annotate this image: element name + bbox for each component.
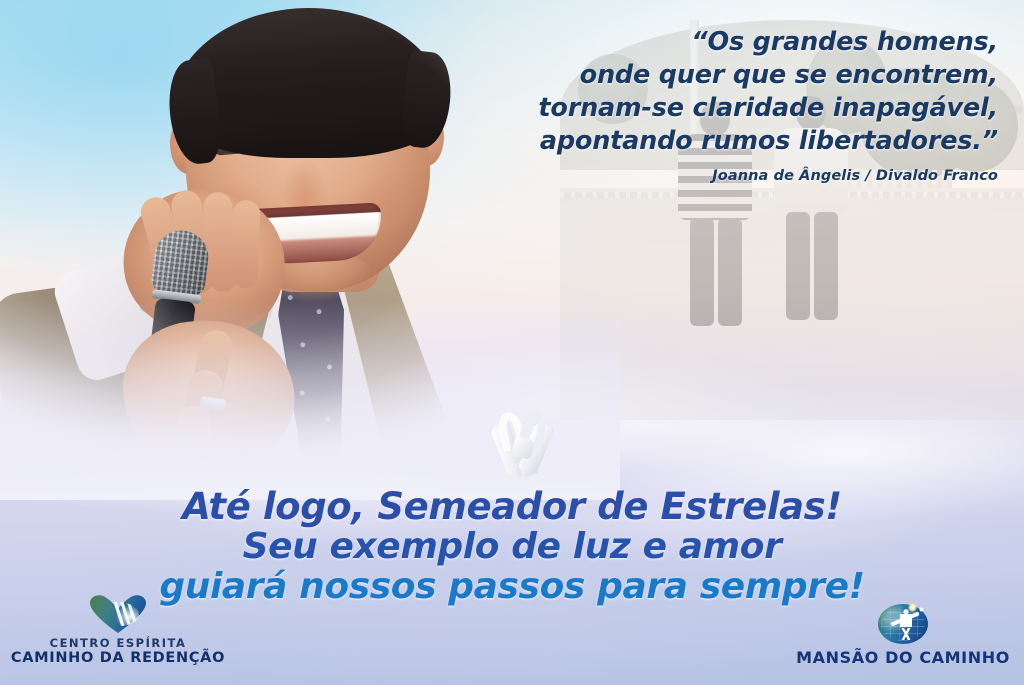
photo-man-leg <box>814 212 838 320</box>
photo-man-leg <box>786 212 810 320</box>
photo-man-leg <box>690 218 714 326</box>
finger <box>230 200 260 289</box>
heart-with-hands-icon <box>90 595 146 633</box>
logo-left-line-2: CAMINHO DA REDENÇÃO <box>11 650 225 667</box>
white-ribbon-icon <box>487 412 557 484</box>
headline-message: Até logo, Semeador de Estrelas! Seu exem… <box>0 486 1024 607</box>
headline-line-1: Até logo, Semeador de Estrelas! <box>0 486 1024 527</box>
globe-with-figure-icon <box>878 604 928 644</box>
quote-attribution: Joanna de Ângelis / Divaldo Franco <box>452 168 998 184</box>
logo-right-line-1: MANSÃO DO CAMINHO <box>796 648 1010 667</box>
star-accent <box>919 607 924 612</box>
quote-line-2: onde quer que se encontrem, <box>452 59 998 92</box>
ribbon-knot <box>511 436 535 460</box>
logo-centro-espirita-caminho-da-redencao: CENTRO ESPÍRITA CAMINHO DA REDENÇÃO <box>18 595 218 667</box>
quote-line-1: “Os grandes homens, <box>452 26 998 59</box>
headline-line-2: Seu exemplo de luz e amor <box>0 527 1024 567</box>
quote-line-4: apontando rumos libertadores.” <box>452 125 998 158</box>
quote-text: “Os grandes homens, onde quer que se enc… <box>452 26 998 158</box>
logo-left-line-1: CENTRO ESPÍRITA <box>50 636 187 650</box>
hair-sideburn <box>399 50 455 150</box>
figure-legs <box>897 628 915 640</box>
photo-man-leg <box>718 218 742 326</box>
microphone-head <box>150 227 211 297</box>
quote-line-3: tornam-se claridade inapagável, <box>452 92 998 125</box>
logo-mansao-do-caminho: MANSÃO DO CAMINHO <box>798 604 1008 667</box>
light-spark <box>908 603 917 612</box>
hands-shape <box>99 602 139 626</box>
memorial-tribute-poster: “Os grandes homens, onde quer que se enc… <box>0 0 1024 685</box>
